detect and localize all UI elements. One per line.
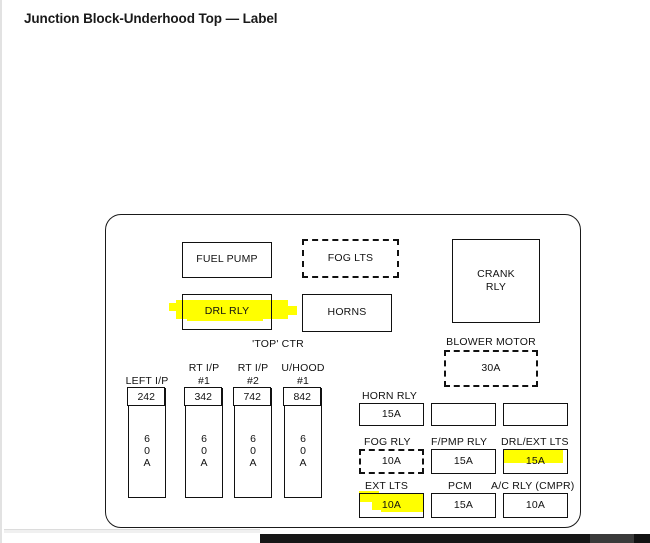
fuse-column-u-hood-1-rating: 6 0 A xyxy=(285,433,321,469)
horizontal-scrollbar[interactable] xyxy=(260,534,650,543)
fuse-column-header-rt-ip-1: RT I/P #1 xyxy=(189,362,220,387)
fuse-column-u-hood-1[interactable]: 842 6 0 A xyxy=(284,388,322,498)
blower-motor-label: BLOWER MOTOR xyxy=(446,336,536,349)
fuse-pcm-rating: 15A xyxy=(454,499,473,512)
blower-motor-fuse-rating: 30A xyxy=(481,362,500,375)
fuse-ext-lts[interactable]: 10A xyxy=(359,493,424,518)
horizontal-scrollbar-track[interactable] xyxy=(260,534,590,543)
relay-fog-lts[interactable]: FOG LTS xyxy=(302,239,399,278)
fuse-column-header-u-hood-1-line1: U/HOOD xyxy=(281,362,324,375)
fuse-column-rt-ip-1-code: 342 xyxy=(184,387,222,406)
fuse-f-pmp-rly[interactable]: 15A xyxy=(431,449,496,474)
fuse-ac-rly-cmpr-rating: 10A xyxy=(526,499,545,512)
relay-horns[interactable]: HORNS xyxy=(302,294,392,332)
fuse-column-header-rt-ip-1-line2: #1 xyxy=(189,375,220,388)
fuse-column-header-rt-ip-2-line1: RT I/P xyxy=(238,362,269,375)
blower-motor-fuse[interactable]: 30A xyxy=(444,350,538,387)
relay-crank-label-line2: RLY xyxy=(486,281,506,294)
fuse-column-left-ip-rating: 6 0 A xyxy=(129,433,165,469)
fuse-column-rt-ip-1-rating: 6 0 A xyxy=(186,433,222,469)
highlight-stroke-drl-relay-left-tail xyxy=(169,303,183,311)
junction-block-diagram: FUEL PUMP FOG LTS CRANK RLY DRL RLY HORN… xyxy=(105,214,581,528)
relay-fuel-pump-label: FUEL PUMP xyxy=(196,253,258,266)
fuse-column-header-left-ip: LEFT I/P xyxy=(126,375,169,388)
fuse-column-u-hood-1-code: 842 xyxy=(283,387,321,406)
fuse-label-horn-rly: HORN RLY xyxy=(362,390,417,403)
fuse-drl-ext-lts[interactable]: 15A xyxy=(503,449,568,474)
relay-crank[interactable]: CRANK RLY xyxy=(452,239,540,323)
top-ctr-label: 'TOP' CTR xyxy=(252,338,304,351)
page-bottom-margin xyxy=(2,532,260,543)
fuse-column-rt-ip-1[interactable]: 342 6 0 A xyxy=(185,388,223,498)
fuse-pcm[interactable]: 15A xyxy=(431,493,496,518)
fuse-ac-rly-cmpr[interactable]: 10A xyxy=(503,493,568,518)
fuse-label-ac-rly-cmpr: A/C RLY (CMPR) xyxy=(491,480,575,493)
fuse-f-pmp-rly-rating: 15A xyxy=(454,455,473,468)
fuse-column-header-u-hood-1: U/HOOD #1 xyxy=(281,362,324,387)
relay-drl[interactable]: DRL RLY xyxy=(182,294,272,330)
fuse-column-rt-ip-2-rating: 6 0 A xyxy=(235,433,271,469)
document-page: Junction Block-Underhood Top — Label FUE… xyxy=(0,0,650,543)
page-bottom-divider xyxy=(4,529,260,533)
fuse-label-f-pmp-rly: F/PMP RLY xyxy=(431,436,487,449)
fuse-fog-rly[interactable]: 10A xyxy=(359,449,424,474)
fuse-fog-rly-rating: 10A xyxy=(382,455,401,468)
horizontal-scrollbar-thumb[interactable] xyxy=(590,534,634,543)
fuse-column-header-rt-ip-2-line2: #2 xyxy=(238,375,269,388)
fuse-drl-ext-lts-rating: 15A xyxy=(526,455,545,468)
relay-horns-label: HORNS xyxy=(328,306,367,319)
fuse-label-pcm: PCM xyxy=(448,480,472,493)
fuse-column-header-rt-ip-2: RT I/P #2 xyxy=(238,362,269,387)
fuse-horn-rly-rating: 15A xyxy=(382,408,401,421)
relay-drl-label: DRL RLY xyxy=(205,305,250,318)
fuse-column-rt-ip-2-code: 742 xyxy=(233,387,271,406)
fuse-empty-slot-2[interactable] xyxy=(503,403,568,426)
fuse-column-left-ip[interactable]: 242 6 0 A xyxy=(128,388,166,498)
fuse-horn-rly[interactable]: 15A xyxy=(359,403,424,426)
fuse-column-header-rt-ip-1-line1: RT I/P xyxy=(189,362,220,375)
relay-fog-lts-label: FOG LTS xyxy=(328,252,374,265)
page-title: Junction Block-Underhood Top — Label xyxy=(24,11,277,26)
fuse-column-header-u-hood-1-line2: #1 xyxy=(281,375,324,388)
fuse-column-rt-ip-2[interactable]: 742 6 0 A xyxy=(234,388,272,498)
relay-fuel-pump[interactable]: FUEL PUMP xyxy=(182,242,272,278)
fuse-empty-slot-1[interactable] xyxy=(431,403,496,426)
fuse-label-drl-ext-lts: DRL/EXT LTS xyxy=(501,436,569,449)
fuse-ext-lts-rating: 10A xyxy=(382,499,401,512)
relay-crank-label-line1: CRANK xyxy=(477,268,515,281)
fuse-label-fog-rly: FOG RLY xyxy=(364,436,411,449)
fuse-label-ext-lts: EXT LTS xyxy=(365,480,408,493)
fuse-column-left-ip-code: 242 xyxy=(127,387,165,406)
